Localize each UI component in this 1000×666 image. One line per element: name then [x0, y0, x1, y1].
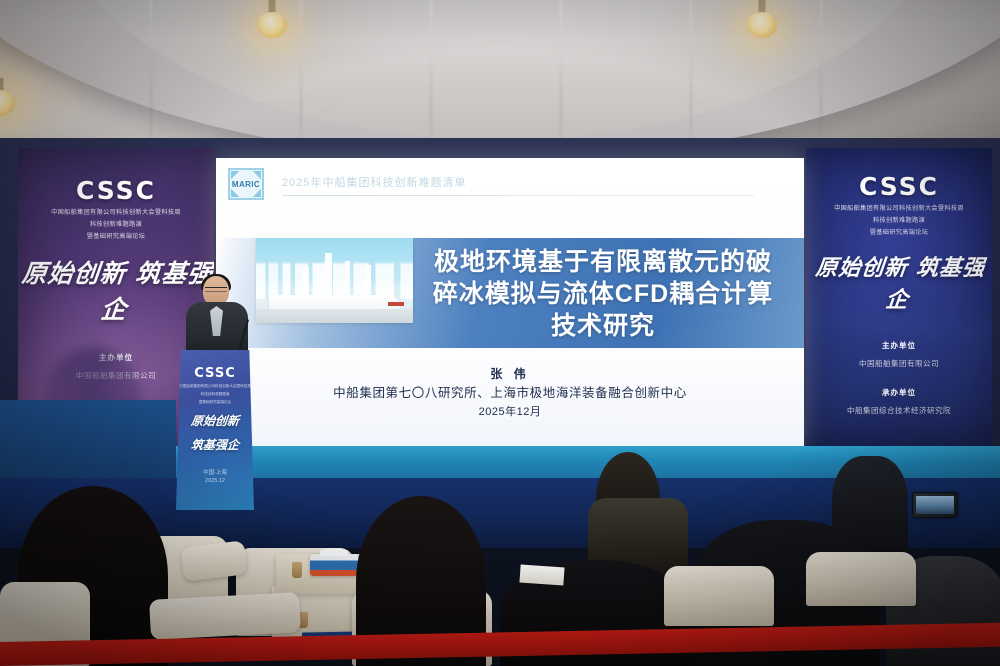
podium-location: 中国·上海 [176, 469, 254, 477]
tissue-box [310, 554, 358, 576]
backdrop-slogan-right: 原始创新 筑基强企 [806, 250, 992, 314]
presenter-name: 张 伟 [216, 366, 804, 383]
attendee-phone[interactable] [912, 492, 958, 518]
maric-logo-icon: MARIC [228, 168, 264, 200]
backdrop-slogan-left: 原始创新 筑基强企 [18, 254, 214, 326]
podium-slogan-line2: 筑基强企 [176, 438, 254, 453]
city-skyline [256, 259, 413, 299]
vessel-marking [388, 302, 404, 306]
podium-subtitle-1: 中国船舶集团有限公司科技创新大会暨科技周 [176, 383, 254, 389]
slide-header: MARIC 2025年中船集团科技创新难题清单 [228, 168, 790, 202]
armrest-right-a [149, 592, 301, 640]
backdrop-panel-right: CSSC 中国船舶集团有限公司科技创新大会暨科技周 科技创新难题路演 暨基础研究… [806, 148, 992, 453]
slide-header-rule [282, 195, 754, 196]
podium-date: 2025.12 [176, 477, 254, 485]
host-value-right: 中国船舶集团有限公司 [806, 358, 992, 369]
presenter-glasses [205, 287, 227, 292]
ceiling-drapery [0, 0, 1000, 160]
tissue-sheet [320, 548, 348, 556]
paper-cup-1 [292, 562, 302, 578]
backdrop-subtitle-left-3: 暨基础研究高端论坛 [18, 232, 214, 241]
cssc-logo-right: CSSC [806, 172, 992, 201]
backdrop-subtitle-right-1: 中国船舶集团有限公司科技创新大会暨科技周 [806, 204, 992, 213]
backdrop-subtitle-left-1: 中国船舶集团有限公司科技创新大会暨科技周 [18, 208, 214, 217]
chair-mid-right [664, 566, 774, 626]
presentation-date: 2025年12月 [216, 404, 804, 421]
presenter-person [186, 276, 248, 354]
backdrop-subtitle-right-2: 科技创新难题路演 [806, 216, 992, 225]
maric-logo-text: MARIC [232, 180, 260, 189]
presenter-affiliation: 中船集团第七〇八研究所、上海市极地海洋装备融合创新中心 [216, 385, 804, 402]
organizer-block-right: 承办单位 中船集团综合技术经济研究院 [806, 387, 992, 416]
water-surface [256, 309, 413, 323]
cssc-logo-left: CSSC [18, 176, 214, 205]
projection-screen: MARIC 2025年中船集团科技创新难题清单 极地环境基于有限离散元的破碎冰模… [216, 158, 804, 446]
podium-subtitle-3: 暨基础研究高端论坛 [176, 399, 254, 405]
podium-cssc-logo: CSSC [176, 366, 254, 381]
handout-left [519, 564, 564, 585]
slide-ship-photo [256, 238, 413, 323]
backdrop-subtitle-right-3: 暨基础研究高端论坛 [806, 228, 992, 237]
slide-presenter-block: 张 伟 中船集团第七〇八研究所、上海市极地海洋装备融合创新中心 2025年12月 [216, 366, 804, 421]
organizer-label-right: 承办单位 [806, 387, 992, 398]
host-block-right: 主办单位 中国船舶集团有限公司 [806, 340, 992, 369]
lectern: CSSC 中国船舶集团有限公司科技创新大会暨科技周 科技创新难题路演 暨基础研究… [176, 350, 254, 510]
slide-main-title: 极地环境基于有限离散元的破碎冰模拟与流体CFD耦合计算技术研究 [428, 246, 778, 342]
chair-far-right [806, 552, 916, 606]
conference-photo-scene: CSSC 中国船舶集团有限公司科技创新大会暨科技周 科技创新难题路演 暨基础研究… [0, 0, 1000, 666]
slide-header-title: 2025年中船集团科技创新难题清单 [282, 174, 466, 190]
backdrop-subtitle-left-2: 科技创新难题路演 [18, 220, 214, 229]
podium-subtitle-2: 科技创新难题路演 [176, 391, 254, 397]
organizer-value-right: 中船集团综合技术经济研究院 [806, 405, 992, 416]
podium-slogan-line1: 原始创新 [176, 414, 254, 429]
phone-screen [916, 496, 954, 514]
host-label-right: 主办单位 [806, 340, 992, 351]
